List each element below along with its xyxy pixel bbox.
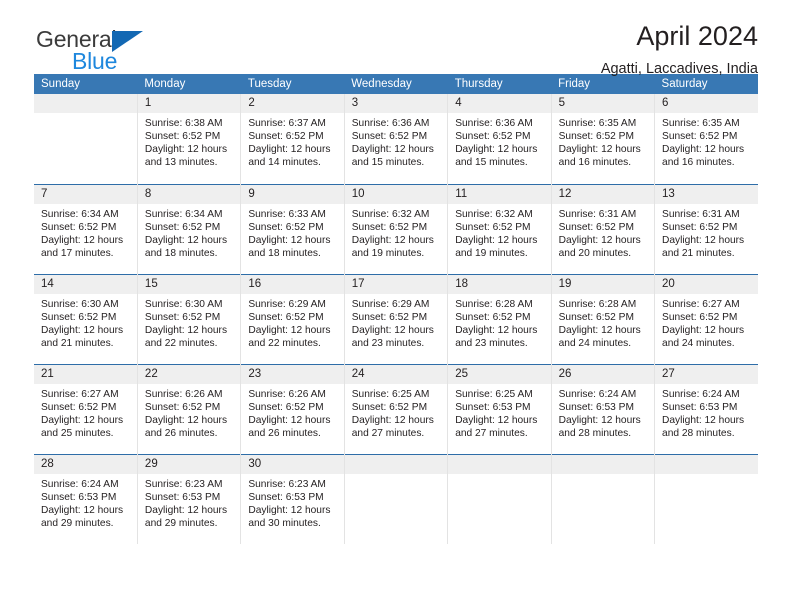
sunset-text: Sunset: 6:52 PM [352, 130, 441, 143]
daylight-text-line2: and 13 minutes. [145, 156, 234, 169]
sunrise-text: Sunrise: 6:26 AM [145, 388, 234, 401]
logo-general-label: General [36, 26, 116, 52]
sunrise-text: Sunrise: 6:23 AM [248, 478, 337, 491]
sunset-text: Sunset: 6:52 PM [41, 401, 131, 414]
day-number: 26 [552, 365, 654, 384]
day-details: Sunrise: 6:32 AM Sunset: 6:52 PM Dayligh… [345, 204, 447, 260]
daylight-text-line2: and 28 minutes. [662, 427, 752, 440]
sunset-text: Sunset: 6:52 PM [559, 130, 648, 143]
day-cell[interactable]: 23 Sunrise: 6:26 AM Sunset: 6:52 PM Dayl… [241, 364, 344, 454]
daylight-text-line1: Daylight: 12 hours [352, 414, 441, 427]
daylight-text-line1: Daylight: 12 hours [662, 414, 752, 427]
sunset-text: Sunset: 6:53 PM [248, 491, 337, 504]
sunrise-text: Sunrise: 6:33 AM [248, 208, 337, 221]
sunset-text: Sunset: 6:53 PM [145, 491, 234, 504]
day-details: Sunrise: 6:33 AM Sunset: 6:52 PM Dayligh… [241, 204, 343, 260]
day-cell[interactable]: 12 Sunrise: 6:31 AM Sunset: 6:52 PM Dayl… [551, 184, 654, 274]
sunset-text: Sunset: 6:52 PM [352, 311, 441, 324]
day-cell[interactable]: 25 Sunrise: 6:25 AM Sunset: 6:53 PM Dayl… [448, 364, 551, 454]
logo-triangle-icon [112, 31, 143, 52]
day-details [34, 113, 137, 117]
day-number: 3 [345, 94, 447, 113]
sunset-text: Sunset: 6:52 PM [248, 311, 337, 324]
day-number: 28 [34, 455, 137, 474]
day-cell[interactable]: 1 Sunrise: 6:38 AM Sunset: 6:52 PM Dayli… [137, 94, 240, 184]
sunset-text: Sunset: 6:52 PM [559, 221, 648, 234]
day-details: Sunrise: 6:28 AM Sunset: 6:52 PM Dayligh… [448, 294, 550, 350]
weekday-header-tuesday: Tuesday [241, 74, 344, 94]
day-number: 25 [448, 365, 550, 384]
daylight-text-line1: Daylight: 12 hours [559, 143, 648, 156]
day-cell[interactable]: 10 Sunrise: 6:32 AM Sunset: 6:52 PM Dayl… [344, 184, 447, 274]
day-number: 12 [552, 185, 654, 204]
daylight-text-line2: and 14 minutes. [248, 156, 337, 169]
day-number: 4 [448, 94, 550, 113]
daylight-text-line1: Daylight: 12 hours [455, 414, 544, 427]
daylight-text-line1: Daylight: 12 hours [145, 504, 234, 517]
daylight-text-line2: and 26 minutes. [145, 427, 234, 440]
sunset-text: Sunset: 6:52 PM [41, 221, 131, 234]
sunset-text: Sunset: 6:52 PM [662, 221, 752, 234]
weekday-header-thursday: Thursday [448, 74, 551, 94]
sunset-text: Sunset: 6:52 PM [145, 401, 234, 414]
day-cell[interactable]: 4 Sunrise: 6:36 AM Sunset: 6:52 PM Dayli… [448, 94, 551, 184]
sunrise-text: Sunrise: 6:24 AM [662, 388, 752, 401]
day-cell[interactable]: 30 Sunrise: 6:23 AM Sunset: 6:53 PM Dayl… [241, 454, 344, 544]
day-details [552, 474, 654, 478]
sunset-text: Sunset: 6:52 PM [455, 130, 544, 143]
daylight-text-line2: and 21 minutes. [41, 337, 131, 350]
sunrise-text: Sunrise: 6:34 AM [145, 208, 234, 221]
day-details: Sunrise: 6:36 AM Sunset: 6:52 PM Dayligh… [448, 113, 550, 169]
day-cell[interactable]: 8 Sunrise: 6:34 AM Sunset: 6:52 PM Dayli… [137, 184, 240, 274]
day-details: Sunrise: 6:29 AM Sunset: 6:52 PM Dayligh… [241, 294, 343, 350]
calendar-table: Sunday Monday Tuesday Wednesday Thursday… [34, 74, 758, 544]
day-cell[interactable] [344, 454, 447, 544]
day-cell[interactable]: 3 Sunrise: 6:36 AM Sunset: 6:52 PM Dayli… [344, 94, 447, 184]
day-number: 23 [241, 365, 343, 384]
sunset-text: Sunset: 6:52 PM [41, 311, 131, 324]
day-number: 16 [241, 275, 343, 294]
day-cell[interactable]: 2 Sunrise: 6:37 AM Sunset: 6:52 PM Dayli… [241, 94, 344, 184]
day-number: 8 [138, 185, 240, 204]
daylight-text-line1: Daylight: 12 hours [662, 143, 752, 156]
sunrise-text: Sunrise: 6:27 AM [41, 388, 131, 401]
sunrise-text: Sunrise: 6:38 AM [145, 117, 234, 130]
day-details [448, 474, 550, 478]
sunset-text: Sunset: 6:53 PM [455, 401, 544, 414]
day-number [552, 455, 654, 474]
daylight-text-line1: Daylight: 12 hours [559, 234, 648, 247]
week-row: 7 Sunrise: 6:34 AM Sunset: 6:52 PM Dayli… [34, 184, 758, 274]
daylight-text-line2: and 16 minutes. [662, 156, 752, 169]
day-cell[interactable]: 28 Sunrise: 6:24 AM Sunset: 6:53 PM Dayl… [34, 454, 137, 544]
day-details: Sunrise: 6:31 AM Sunset: 6:52 PM Dayligh… [655, 204, 758, 260]
sunrise-text: Sunrise: 6:25 AM [352, 388, 441, 401]
day-number: 6 [655, 94, 758, 113]
daylight-text-line1: Daylight: 12 hours [145, 414, 234, 427]
day-number [34, 94, 137, 113]
day-cell[interactable] [34, 94, 137, 184]
sunrise-text: Sunrise: 6:24 AM [41, 478, 131, 491]
day-details: Sunrise: 6:28 AM Sunset: 6:52 PM Dayligh… [552, 294, 654, 350]
day-details: Sunrise: 6:36 AM Sunset: 6:52 PM Dayligh… [345, 113, 447, 169]
day-cell[interactable] [655, 454, 758, 544]
sunrise-text: Sunrise: 6:35 AM [559, 117, 648, 130]
sunset-text: Sunset: 6:52 PM [248, 401, 337, 414]
day-cell[interactable]: 9 Sunrise: 6:33 AM Sunset: 6:52 PM Dayli… [241, 184, 344, 274]
day-cell[interactable]: 22 Sunrise: 6:26 AM Sunset: 6:52 PM Dayl… [137, 364, 240, 454]
sunset-text: Sunset: 6:52 PM [248, 221, 337, 234]
day-details: Sunrise: 6:34 AM Sunset: 6:52 PM Dayligh… [34, 204, 137, 260]
day-details: Sunrise: 6:24 AM Sunset: 6:53 PM Dayligh… [655, 384, 758, 440]
daylight-text-line2: and 19 minutes. [352, 247, 441, 260]
day-cell[interactable]: 18 Sunrise: 6:28 AM Sunset: 6:52 PM Dayl… [448, 274, 551, 364]
daylight-text-line1: Daylight: 12 hours [455, 143, 544, 156]
week-row: 21 Sunrise: 6:27 AM Sunset: 6:52 PM Dayl… [34, 364, 758, 454]
sunset-text: Sunset: 6:53 PM [662, 401, 752, 414]
day-number: 21 [34, 365, 137, 384]
daylight-text-line2: and 16 minutes. [559, 156, 648, 169]
day-number: 15 [138, 275, 240, 294]
day-details: Sunrise: 6:29 AM Sunset: 6:52 PM Dayligh… [345, 294, 447, 350]
day-number: 1 [138, 94, 240, 113]
sunrise-text: Sunrise: 6:30 AM [41, 298, 131, 311]
sunrise-text: Sunrise: 6:30 AM [145, 298, 234, 311]
daylight-text-line1: Daylight: 12 hours [248, 504, 337, 517]
week-row: 28 Sunrise: 6:24 AM Sunset: 6:53 PM Dayl… [34, 454, 758, 544]
daylight-text-line2: and 29 minutes. [145, 517, 234, 530]
page-title: April 2024 [601, 22, 758, 50]
day-number [655, 455, 758, 474]
day-cell[interactable]: 29 Sunrise: 6:23 AM Sunset: 6:53 PM Dayl… [137, 454, 240, 544]
day-details: Sunrise: 6:37 AM Sunset: 6:52 PM Dayligh… [241, 113, 343, 169]
day-number: 9 [241, 185, 343, 204]
daylight-text-line1: Daylight: 12 hours [248, 414, 337, 427]
day-number: 27 [655, 365, 758, 384]
day-cell[interactable]: 7 Sunrise: 6:34 AM Sunset: 6:52 PM Dayli… [34, 184, 137, 274]
daylight-text-line2: and 18 minutes. [248, 247, 337, 260]
day-number: 2 [241, 94, 343, 113]
day-number: 29 [138, 455, 240, 474]
general-blue-logo[interactable]: General Blue [36, 28, 236, 78]
day-cell[interactable]: 20 Sunrise: 6:27 AM Sunset: 6:52 PM Dayl… [655, 274, 758, 364]
day-details: Sunrise: 6:26 AM Sunset: 6:52 PM Dayligh… [241, 384, 343, 440]
sunset-text: Sunset: 6:52 PM [352, 221, 441, 234]
daylight-text-line1: Daylight: 12 hours [145, 234, 234, 247]
daylight-text-line1: Daylight: 12 hours [145, 143, 234, 156]
sunrise-text: Sunrise: 6:24 AM [559, 388, 648, 401]
day-details: Sunrise: 6:35 AM Sunset: 6:52 PM Dayligh… [655, 113, 758, 169]
sunrise-text: Sunrise: 6:26 AM [248, 388, 337, 401]
sunset-text: Sunset: 6:52 PM [455, 221, 544, 234]
daylight-text-line1: Daylight: 12 hours [352, 324, 441, 337]
daylight-text-line1: Daylight: 12 hours [248, 143, 337, 156]
sunset-text: Sunset: 6:52 PM [662, 130, 752, 143]
day-details: Sunrise: 6:30 AM Sunset: 6:52 PM Dayligh… [138, 294, 240, 350]
day-number: 17 [345, 275, 447, 294]
daylight-text-line2: and 18 minutes. [145, 247, 234, 260]
day-number: 20 [655, 275, 758, 294]
day-cell[interactable]: 19 Sunrise: 6:28 AM Sunset: 6:52 PM Dayl… [551, 274, 654, 364]
weekday-header-wednesday: Wednesday [344, 74, 447, 94]
daylight-text-line1: Daylight: 12 hours [145, 324, 234, 337]
day-details: Sunrise: 6:24 AM Sunset: 6:53 PM Dayligh… [552, 384, 654, 440]
day-cell[interactable]: 26 Sunrise: 6:24 AM Sunset: 6:53 PM Dayl… [551, 364, 654, 454]
day-details: Sunrise: 6:27 AM Sunset: 6:52 PM Dayligh… [34, 384, 137, 440]
day-cell[interactable]: 27 Sunrise: 6:24 AM Sunset: 6:53 PM Dayl… [655, 364, 758, 454]
daylight-text-line2: and 22 minutes. [248, 337, 337, 350]
week-row: 1 Sunrise: 6:38 AM Sunset: 6:52 PM Dayli… [34, 94, 758, 184]
sunrise-text: Sunrise: 6:32 AM [352, 208, 441, 221]
day-cell[interactable]: 17 Sunrise: 6:29 AM Sunset: 6:52 PM Dayl… [344, 274, 447, 364]
sunrise-text: Sunrise: 6:36 AM [455, 117, 544, 130]
day-details: Sunrise: 6:25 AM Sunset: 6:52 PM Dayligh… [345, 384, 447, 440]
daylight-text-line1: Daylight: 12 hours [41, 234, 131, 247]
daylight-text-line2: and 23 minutes. [352, 337, 441, 350]
sunset-text: Sunset: 6:52 PM [455, 311, 544, 324]
day-cell[interactable] [448, 454, 551, 544]
sunset-text: Sunset: 6:53 PM [41, 491, 131, 504]
daylight-text-line1: Daylight: 12 hours [559, 324, 648, 337]
daylight-text-line2: and 20 minutes. [559, 247, 648, 260]
day-details: Sunrise: 6:23 AM Sunset: 6:53 PM Dayligh… [138, 474, 240, 530]
daylight-text-line1: Daylight: 12 hours [455, 324, 544, 337]
daylight-text-line1: Daylight: 12 hours [248, 324, 337, 337]
day-cell[interactable]: 5 Sunrise: 6:35 AM Sunset: 6:52 PM Dayli… [551, 94, 654, 184]
daylight-text-line2: and 27 minutes. [352, 427, 441, 440]
day-cell[interactable]: 11 Sunrise: 6:32 AM Sunset: 6:52 PM Dayl… [448, 184, 551, 274]
day-number: 10 [345, 185, 447, 204]
day-cell[interactable]: 16 Sunrise: 6:29 AM Sunset: 6:52 PM Dayl… [241, 274, 344, 364]
day-details: Sunrise: 6:23 AM Sunset: 6:53 PM Dayligh… [241, 474, 343, 530]
sunrise-text: Sunrise: 6:25 AM [455, 388, 544, 401]
logo-text-general: General [36, 28, 236, 51]
daylight-text-line2: and 28 minutes. [559, 427, 648, 440]
sunset-text: Sunset: 6:52 PM [145, 221, 234, 234]
title-block: April 2024 Agatti, Laccadives, India [601, 22, 758, 77]
daylight-text-line2: and 22 minutes. [145, 337, 234, 350]
daylight-text-line2: and 24 minutes. [559, 337, 648, 350]
day-number: 14 [34, 275, 137, 294]
sunrise-text: Sunrise: 6:23 AM [145, 478, 234, 491]
sunset-text: Sunset: 6:53 PM [559, 401, 648, 414]
daylight-text-line1: Daylight: 12 hours [248, 234, 337, 247]
daylight-text-line2: and 26 minutes. [248, 427, 337, 440]
day-number: 30 [241, 455, 343, 474]
daylight-text-line1: Daylight: 12 hours [662, 324, 752, 337]
sunrise-text: Sunrise: 6:29 AM [248, 298, 337, 311]
sunrise-text: Sunrise: 6:29 AM [352, 298, 441, 311]
day-cell[interactable]: 15 Sunrise: 6:30 AM Sunset: 6:52 PM Dayl… [137, 274, 240, 364]
week-row: 14 Sunrise: 6:30 AM Sunset: 6:52 PM Dayl… [34, 274, 758, 364]
logo-blue-label: Blue [72, 50, 236, 73]
daylight-text-line2: and 15 minutes. [352, 156, 441, 169]
day-number: 19 [552, 275, 654, 294]
calendar-page: General Blue April 2024 Agatti, Laccadiv… [0, 0, 792, 612]
sunrise-text: Sunrise: 6:31 AM [559, 208, 648, 221]
day-number: 13 [655, 185, 758, 204]
daylight-text-line1: Daylight: 12 hours [455, 234, 544, 247]
daylight-text-line2: and 29 minutes. [41, 517, 131, 530]
daylight-text-line2: and 19 minutes. [455, 247, 544, 260]
day-number: 22 [138, 365, 240, 384]
calendar-body: 1 Sunrise: 6:38 AM Sunset: 6:52 PM Dayli… [34, 94, 758, 544]
sunrise-text: Sunrise: 6:32 AM [455, 208, 544, 221]
daylight-text-line1: Daylight: 12 hours [352, 143, 441, 156]
day-details [345, 474, 447, 478]
day-details: Sunrise: 6:26 AM Sunset: 6:52 PM Dayligh… [138, 384, 240, 440]
daylight-text-line2: and 15 minutes. [455, 156, 544, 169]
daylight-text-line2: and 27 minutes. [455, 427, 544, 440]
day-number [448, 455, 550, 474]
day-number: 5 [552, 94, 654, 113]
sunset-text: Sunset: 6:52 PM [662, 311, 752, 324]
sunrise-text: Sunrise: 6:36 AM [352, 117, 441, 130]
day-details: Sunrise: 6:38 AM Sunset: 6:52 PM Dayligh… [138, 113, 240, 169]
day-details: Sunrise: 6:25 AM Sunset: 6:53 PM Dayligh… [448, 384, 550, 440]
day-number [345, 455, 447, 474]
day-cell[interactable]: 6 Sunrise: 6:35 AM Sunset: 6:52 PM Dayli… [655, 94, 758, 184]
daylight-text-line2: and 21 minutes. [662, 247, 752, 260]
sunset-text: Sunset: 6:52 PM [145, 311, 234, 324]
sunset-text: Sunset: 6:52 PM [559, 311, 648, 324]
day-details [655, 474, 758, 478]
day-number: 18 [448, 275, 550, 294]
daylight-text-line2: and 24 minutes. [662, 337, 752, 350]
sunrise-text: Sunrise: 6:28 AM [559, 298, 648, 311]
day-details: Sunrise: 6:35 AM Sunset: 6:52 PM Dayligh… [552, 113, 654, 169]
daylight-text-line1: Daylight: 12 hours [41, 504, 131, 517]
day-number: 7 [34, 185, 137, 204]
day-number: 11 [448, 185, 550, 204]
day-cell[interactable]: 13 Sunrise: 6:31 AM Sunset: 6:52 PM Dayl… [655, 184, 758, 274]
daylight-text-line2: and 23 minutes. [455, 337, 544, 350]
day-number: 24 [345, 365, 447, 384]
day-details: Sunrise: 6:30 AM Sunset: 6:52 PM Dayligh… [34, 294, 137, 350]
day-details: Sunrise: 6:32 AM Sunset: 6:52 PM Dayligh… [448, 204, 550, 260]
day-cell[interactable]: 21 Sunrise: 6:27 AM Sunset: 6:52 PM Dayl… [34, 364, 137, 454]
page-header: General Blue April 2024 Agatti, Laccadiv… [34, 0, 758, 74]
daylight-text-line2: and 30 minutes. [248, 517, 337, 530]
day-cell[interactable]: 24 Sunrise: 6:25 AM Sunset: 6:52 PM Dayl… [344, 364, 447, 454]
daylight-text-line1: Daylight: 12 hours [41, 324, 131, 337]
sunset-text: Sunset: 6:52 PM [145, 130, 234, 143]
sunrise-text: Sunrise: 6:28 AM [455, 298, 544, 311]
sunrise-text: Sunrise: 6:37 AM [248, 117, 337, 130]
sunset-text: Sunset: 6:52 PM [248, 130, 337, 143]
day-details: Sunrise: 6:31 AM Sunset: 6:52 PM Dayligh… [552, 204, 654, 260]
daylight-text-line1: Daylight: 12 hours [662, 234, 752, 247]
location-subtitle: Agatti, Laccadives, India [601, 61, 758, 77]
sunrise-text: Sunrise: 6:34 AM [41, 208, 131, 221]
sunrise-text: Sunrise: 6:35 AM [662, 117, 752, 130]
day-cell[interactable] [551, 454, 654, 544]
day-details: Sunrise: 6:24 AM Sunset: 6:53 PM Dayligh… [34, 474, 137, 530]
daylight-text-line2: and 17 minutes. [41, 247, 131, 260]
daylight-text-line1: Daylight: 12 hours [41, 414, 131, 427]
sunset-text: Sunset: 6:52 PM [352, 401, 441, 414]
day-cell[interactable]: 14 Sunrise: 6:30 AM Sunset: 6:52 PM Dayl… [34, 274, 137, 364]
sunrise-text: Sunrise: 6:27 AM [662, 298, 752, 311]
day-details: Sunrise: 6:27 AM Sunset: 6:52 PM Dayligh… [655, 294, 758, 350]
daylight-text-line2: and 25 minutes. [41, 427, 131, 440]
daylight-text-line1: Daylight: 12 hours [559, 414, 648, 427]
day-details: Sunrise: 6:34 AM Sunset: 6:52 PM Dayligh… [138, 204, 240, 260]
daylight-text-line1: Daylight: 12 hours [352, 234, 441, 247]
sunrise-text: Sunrise: 6:31 AM [662, 208, 752, 221]
